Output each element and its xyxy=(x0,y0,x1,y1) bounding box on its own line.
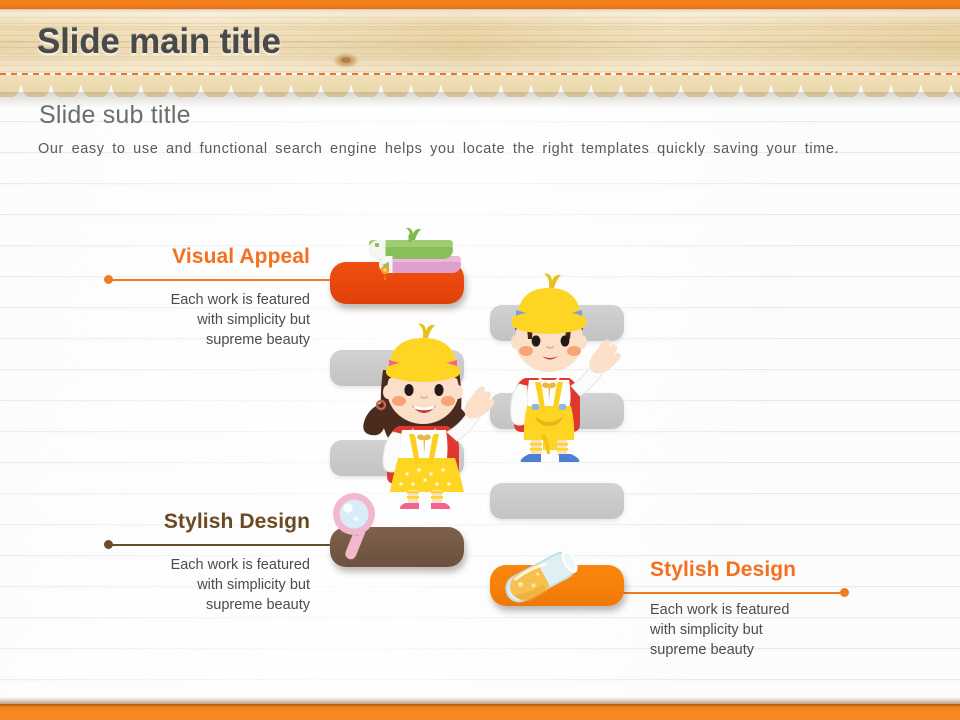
connector-line-visual-appeal xyxy=(108,279,340,281)
girl-character xyxy=(355,298,495,510)
magnifier-icon xyxy=(328,488,386,566)
item-heading-stylish-design-right: Stylish Design xyxy=(650,558,900,582)
item-body-line: with simplicity but xyxy=(650,620,900,640)
connector-dot-visual-appeal xyxy=(104,275,113,284)
sub-title: Slide sub title xyxy=(39,101,191,130)
page-title: Slide main title xyxy=(37,22,281,62)
item-body-line: Each work is featured xyxy=(60,555,310,575)
item-body-line: Each work is featured xyxy=(60,290,310,310)
item-body-line: supreme beauty xyxy=(650,640,900,660)
item-heading-stylish-design-left: Stylish Design xyxy=(60,510,310,534)
placeholder-bar xyxy=(490,483,624,519)
item-heading-visual-appeal: Visual Appeal xyxy=(60,245,310,269)
crayons-icon xyxy=(355,228,471,286)
item-body-line: with simplicity but xyxy=(60,575,310,595)
connector-line-stylish-design-left xyxy=(108,544,340,546)
connector-dot-stylish-design-left xyxy=(104,540,113,549)
item-body-stylish-design-left: Each work is featured with simplicity bu… xyxy=(60,555,310,615)
item-body-line: Each work is featured xyxy=(650,600,900,620)
connector-dot-stylish-design-right xyxy=(840,588,849,597)
item-body-line: supreme beauty xyxy=(60,330,310,350)
bottom-orange-highlight xyxy=(0,704,960,707)
sub-description: Our easy to use and functional search en… xyxy=(38,141,878,157)
connector-line-stylish-design-right xyxy=(612,592,844,594)
item-body-line: with simplicity but xyxy=(60,310,310,330)
wood-knot-core xyxy=(341,57,351,63)
top-orange-rule xyxy=(0,0,960,9)
boy-character xyxy=(495,268,625,473)
test-tube-icon xyxy=(498,550,584,606)
slide-canvas: Slide main title Slide sub title Our eas… xyxy=(0,0,960,720)
item-body-stylish-design-right: Each work is featured with simplicity bu… xyxy=(650,600,900,660)
item-body-line: supreme beauty xyxy=(60,595,310,615)
item-body-visual-appeal: Each work is featured with simplicity bu… xyxy=(60,290,310,350)
scalloped-edge-mask xyxy=(0,75,960,99)
